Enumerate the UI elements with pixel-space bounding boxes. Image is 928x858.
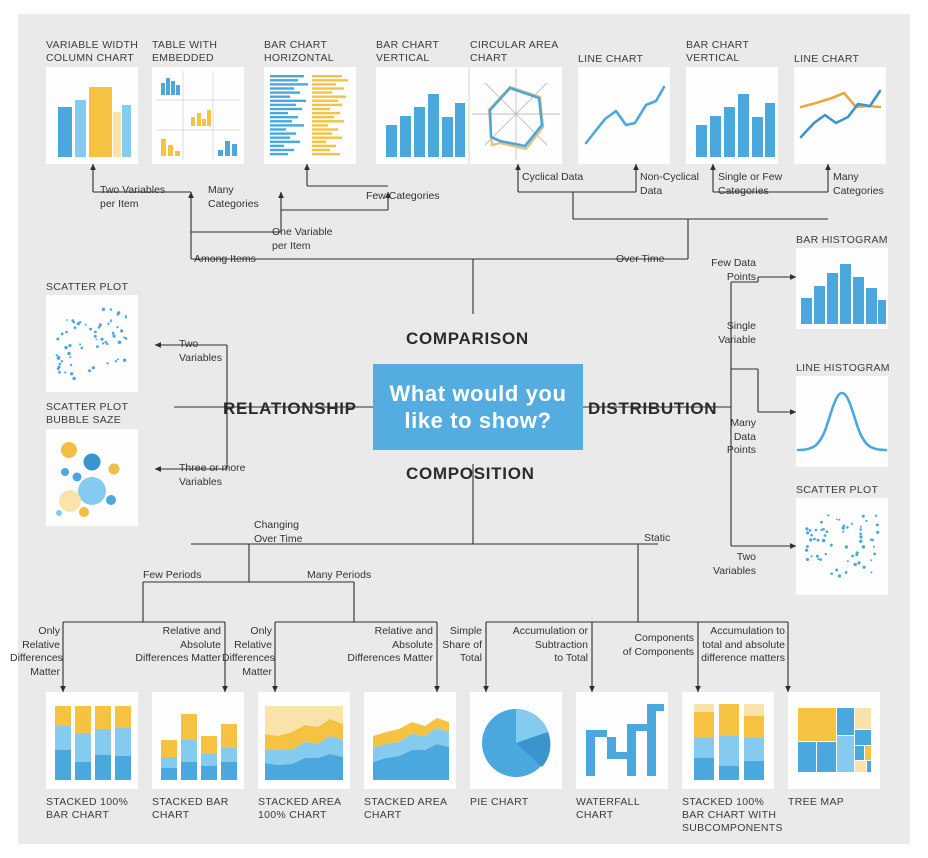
connector-simple-share-of-total: Simple Share of Total bbox=[432, 625, 482, 666]
thumb-line-chart-many-categories[interactable] bbox=[794, 67, 886, 164]
thumb-tree-map[interactable] bbox=[788, 692, 880, 789]
chart-suggestions-diagram: VARIABLE WIDTH COLUMN CHART TABLE WITH E… bbox=[0, 0, 928, 858]
connector-many-categories: Many Categories bbox=[208, 184, 278, 211]
thumb-stacked-area-chart[interactable] bbox=[364, 692, 456, 789]
connector-only-relative-differences-matter-2: Only Relative Differences Matter bbox=[222, 625, 272, 679]
thumb-stacked-100-bar-chart-subcomponents[interactable] bbox=[682, 692, 774, 789]
thumb-pie-chart[interactable] bbox=[470, 692, 562, 789]
label-bar-chart-vertical-2: BAR CHART VERTICAL bbox=[686, 39, 786, 65]
connector-few-data-points: Few Data Points bbox=[694, 257, 756, 284]
category-comparison: COMPARISON bbox=[406, 329, 529, 349]
thumb-bar-chart-horizontal[interactable] bbox=[264, 67, 356, 164]
thumb-line-chart-noncyclical[interactable] bbox=[578, 67, 670, 164]
connector-over-time: Over Time bbox=[616, 253, 686, 267]
label-stacked-100-bar-chart: STACKED 100% BAR CHART bbox=[46, 796, 146, 822]
thumb-variable-width-column-chart[interactable] bbox=[46, 67, 138, 164]
connector-three-or-more-variables: Three or more Variables bbox=[179, 462, 269, 489]
connector-many-data-points: Many Data Points bbox=[694, 417, 756, 458]
thumb-scatter-plot[interactable] bbox=[46, 295, 138, 392]
connector-cyclical-data: Cyclical Data bbox=[522, 171, 612, 185]
thumb-stacked-100-bar-chart[interactable] bbox=[46, 692, 138, 789]
connector-static: Static bbox=[644, 532, 704, 546]
thumb-bar-chart-vertical-2[interactable] bbox=[686, 67, 778, 164]
connector-relative-and-absolute-differences-matter-1: Relative and Absolute Differences Matter bbox=[116, 625, 221, 666]
label-circular-area-chart: CIRCULAR AREA CHART bbox=[470, 39, 570, 65]
thumb-table-with-embedded-charts[interactable] bbox=[152, 67, 244, 164]
label-line-histogram: LINE HISTOGRAM bbox=[796, 362, 906, 375]
label-stacked-bar-chart: STACKED BAR CHART bbox=[152, 796, 252, 822]
label-line-chart-noncyclical: LINE CHART bbox=[578, 53, 678, 66]
hub-line-2: like to show? bbox=[389, 407, 566, 434]
label-bar-chart-vertical: BAR CHART VERTICAL bbox=[376, 39, 476, 65]
thumb-circular-area-chart[interactable] bbox=[470, 67, 562, 164]
connector-single-or-few-categories: Single or Few Categories bbox=[718, 171, 798, 198]
connector-changing-over-time: Changing Over Time bbox=[254, 519, 344, 546]
label-line-chart-many-categories: LINE CHART bbox=[794, 53, 894, 66]
label-stacked-area-chart: STACKED AREA CHART bbox=[364, 796, 464, 822]
label-scatter-plot-distribution: SCATTER PLOT bbox=[796, 484, 906, 497]
connector-two-variables: Two Variables bbox=[179, 338, 249, 365]
connector-two-variables-distribution: Two Variables bbox=[694, 551, 756, 578]
connector-few-categories: Few Categories bbox=[366, 190, 476, 204]
connector-relative-and-absolute-differences-matter-2: Relative and Absolute Differences Matter bbox=[328, 625, 433, 666]
diagram-canvas: VARIABLE WIDTH COLUMN CHART TABLE WITH E… bbox=[18, 14, 910, 844]
label-pie-chart: PIE CHART bbox=[470, 796, 570, 809]
connector-two-variables-per-item: Two Variables per Item bbox=[100, 184, 190, 211]
thumb-line-histogram[interactable] bbox=[796, 376, 888, 467]
thumb-bar-histogram[interactable] bbox=[796, 248, 888, 329]
connector-few-periods: Few Periods bbox=[143, 569, 233, 583]
connector-many-periods: Many Periods bbox=[307, 569, 401, 583]
label-scatter-plot: SCATTER PLOT bbox=[46, 281, 156, 294]
connector-non-cyclical-data: Non-Cyclical Data bbox=[640, 171, 720, 198]
category-distribution: DISTRIBUTION bbox=[588, 399, 717, 419]
connector-only-relative-differences-matter-1: Only Relative Differences Matter bbox=[10, 625, 60, 679]
connector-accumulation-or-subtraction-to-total: Accumulation or Subtraction to Total bbox=[498, 625, 588, 666]
label-stacked-area-100-chart: STACKED AREA 100% CHART bbox=[258, 796, 358, 822]
label-variable-width-column-chart: VARIABLE WIDTH COLUMN CHART bbox=[46, 39, 146, 65]
connector-single-variable: Single Variable bbox=[694, 320, 756, 347]
thumb-scatter-plot-bubble-size[interactable] bbox=[46, 429, 138, 526]
connector-many-categories-time: Many Categories bbox=[833, 171, 909, 198]
connector-one-variable-per-item: One Variable per Item bbox=[272, 226, 362, 253]
label-waterfall-chart: WATERFALL CHART bbox=[576, 796, 676, 822]
hub-line-1: What would you bbox=[389, 380, 566, 407]
thumb-bar-chart-vertical[interactable] bbox=[376, 67, 468, 164]
connector-among-items: Among Items bbox=[194, 253, 294, 267]
hub-question-box[interactable]: What would you like to show? bbox=[373, 364, 583, 450]
thumb-scatter-plot-distribution[interactable] bbox=[796, 498, 888, 595]
label-stacked-100-bar-chart-subcomponents: STACKED 100% BAR CHART WITH SUBCOMPONENT… bbox=[682, 796, 788, 835]
category-composition: COMPOSITION bbox=[406, 464, 535, 484]
label-tree-map: TREE MAP bbox=[788, 796, 888, 809]
connector-accumulation-to-total-and-absolute: Accumulation to total and absolute diffe… bbox=[690, 625, 785, 666]
category-relationship: RELATIONSHIP bbox=[223, 399, 357, 419]
thumb-stacked-area-100-chart[interactable] bbox=[258, 692, 350, 789]
label-bar-chart-horizontal: BAR CHART HORIZONTAL bbox=[264, 39, 364, 65]
connector-components-of-components: Components of Components bbox=[618, 632, 694, 659]
label-bar-histogram: BAR HISTOGRAM bbox=[796, 234, 906, 247]
thumb-waterfall-chart[interactable] bbox=[576, 692, 668, 789]
label-scatter-plot-bubble-size: SCATTER PLOT BUBBLE SAZE bbox=[46, 401, 156, 427]
thumb-stacked-bar-chart[interactable] bbox=[152, 692, 244, 789]
